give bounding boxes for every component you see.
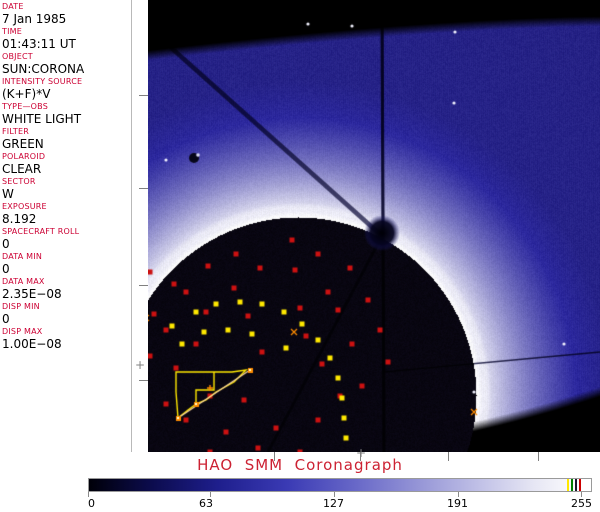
colorbar-overflow-band bbox=[567, 479, 569, 491]
colorbar[interactable] bbox=[88, 478, 592, 492]
colorbar-overflow-band bbox=[575, 479, 577, 491]
metadata-row: SPACECRAFT ROLL0 bbox=[2, 227, 131, 251]
metadata-value: 0 bbox=[2, 312, 131, 326]
metadata-row: EXPOSURE8.192 bbox=[2, 202, 131, 226]
colorbar-group: 063127191255 bbox=[88, 478, 592, 512]
metadata-label: DISP MAX bbox=[2, 327, 131, 337]
metadata-row: TYPE—OBSWHITE LIGHT bbox=[2, 102, 131, 126]
metadata-row: DISP MAX1.00E−08 bbox=[2, 327, 131, 351]
metadata-row: TIME01:43:11 UT bbox=[2, 27, 131, 51]
colorbar-tick-label: 127 bbox=[323, 497, 344, 510]
metadata-value: WHITE LIGHT bbox=[2, 112, 131, 126]
axis-tick-left bbox=[139, 95, 148, 96]
metadata-row: DATE7 Jan 1985 bbox=[2, 2, 131, 26]
colorbar-overflow-band bbox=[579, 479, 581, 491]
metadata-value: 0 bbox=[2, 262, 131, 276]
metadata-label: DISP MIN bbox=[2, 302, 131, 312]
colorbar-tick-label: 255 bbox=[571, 497, 592, 510]
metadata-value: GREEN bbox=[2, 137, 131, 151]
metadata-row: FILTERGREEN bbox=[2, 127, 131, 151]
metadata-label: DATA MIN bbox=[2, 252, 131, 262]
colorbar-tick-label: 191 bbox=[447, 497, 468, 510]
metadata-label: TIME bbox=[2, 27, 131, 37]
colorbar-overflow-band bbox=[571, 479, 573, 491]
colorbar-tick-label: 0 bbox=[88, 497, 95, 510]
metadata-value: 1.00E−08 bbox=[2, 337, 131, 351]
colorbar-gradient bbox=[89, 479, 583, 491]
metadata-label: INTENSITY SOURCE bbox=[2, 77, 131, 87]
metadata-label: OBJECT bbox=[2, 52, 131, 62]
metadata-value: CLEAR bbox=[2, 162, 131, 176]
metadata-label: FILTER bbox=[2, 127, 131, 137]
metadata-value: 2.35E−08 bbox=[2, 287, 131, 301]
metadata-row: DATA MIN0 bbox=[2, 252, 131, 276]
metadata-value: W bbox=[2, 187, 131, 201]
metadata-value: 01:43:11 UT bbox=[2, 37, 131, 51]
coronagraph-image[interactable] bbox=[148, 0, 600, 452]
metadata-label: DATE bbox=[2, 2, 131, 12]
metadata-row: POLAROIDCLEAR bbox=[2, 152, 131, 176]
metadata-label: POLAROID bbox=[2, 152, 131, 162]
metadata-row: DATA MAX2.35E−08 bbox=[2, 277, 131, 301]
metadata-label: TYPE—OBS bbox=[2, 102, 131, 112]
metadata-row: INTENSITY SOURCE(K+F)*V bbox=[2, 77, 131, 101]
metadata-label: DATA MAX bbox=[2, 277, 131, 287]
metadata-label: SPACECRAFT ROLL bbox=[2, 227, 131, 237]
metadata-row: SECTORW bbox=[2, 177, 131, 201]
metadata-row: DISP MIN0 bbox=[2, 302, 131, 326]
axis-tick-left bbox=[139, 285, 148, 286]
metadata-value: (K+F)*V bbox=[2, 87, 131, 101]
plot-title: HAO SMM Coronagraph bbox=[0, 456, 600, 474]
axis-tick-left bbox=[139, 188, 148, 189]
axis-tick-left bbox=[139, 380, 148, 381]
metadata-row: OBJECTSUN:CORONA bbox=[2, 52, 131, 76]
metadata-value: 7 Jan 1985 bbox=[2, 12, 131, 26]
metadata-value: 8.192 bbox=[2, 212, 131, 226]
crosshair-marker-left: + bbox=[135, 360, 145, 370]
colorbar-tick-label: 63 bbox=[199, 497, 213, 510]
metadata-value: 0 bbox=[2, 237, 131, 251]
metadata-label: SECTOR bbox=[2, 177, 131, 187]
metadata-value: SUN:CORONA bbox=[2, 62, 131, 76]
metadata-label: EXPOSURE bbox=[2, 202, 131, 212]
coronagraph-image-panel[interactable] bbox=[148, 0, 600, 452]
metadata-sidebar: DATE7 Jan 1985TIME01:43:11 UTOBJECTSUN:C… bbox=[0, 0, 132, 452]
